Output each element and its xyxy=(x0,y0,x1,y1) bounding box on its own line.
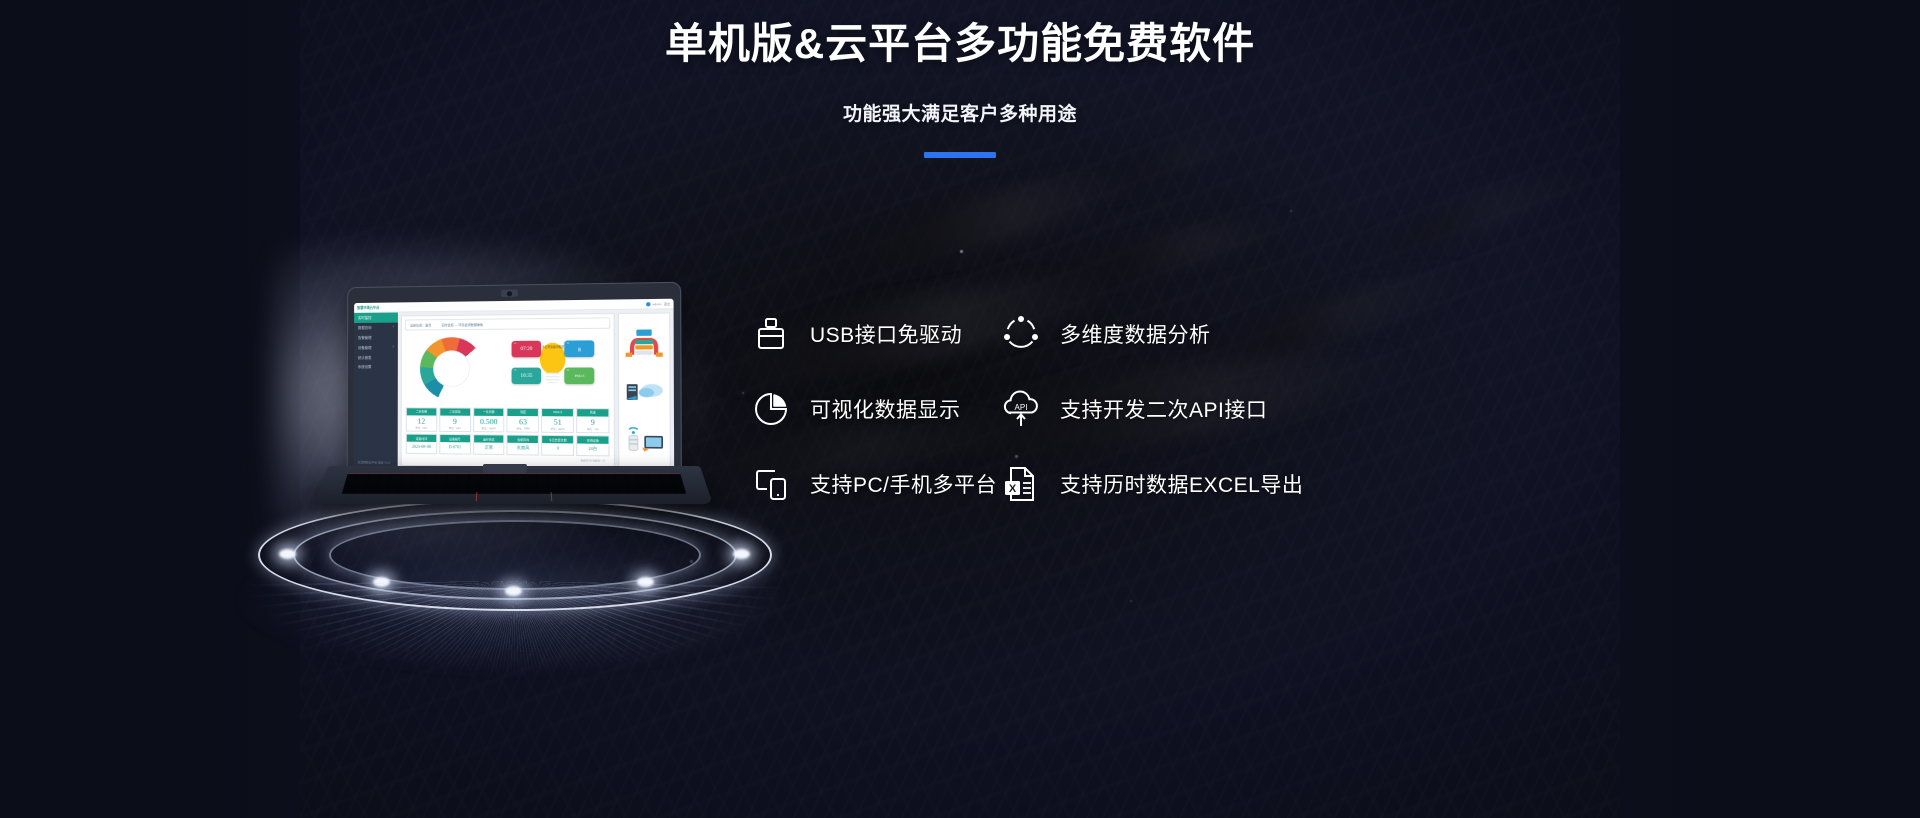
dashboard-main: 当前位置：首页 实时监控 — 环境监测数据看板 12 34 5 xyxy=(401,313,615,469)
hero-header: 单机版&云平台多功能免费软件 功能强大满足客户多种用途 xyxy=(0,18,1920,158)
callout-value: 良 xyxy=(578,347,582,352)
hero-banner: 单机版&云平台多功能免费软件 功能强大满足客户多种用途 智慧环境云平台 admi… xyxy=(0,0,1920,818)
feature-label: 支持历时数据EXCEL导出 xyxy=(1060,469,1303,499)
stat-tile: PM2.5 51 单位：μg/m³ xyxy=(541,408,574,433)
feature-label: 可视化数据显示 xyxy=(810,394,961,424)
stat-tile-unit: 单位：m/s xyxy=(577,427,608,433)
feature-item-multiplatform: 支持PC/手机多平台 xyxy=(750,446,1000,521)
cloud-server-graphic xyxy=(623,380,665,405)
sensor-device-graphic xyxy=(622,427,666,455)
callout-value: PM2.5 xyxy=(575,374,585,378)
feature-label: 支持开发二次API接口 xyxy=(1060,394,1267,424)
gauge-ticks: 12 34 5 xyxy=(420,338,484,401)
sidebar-item-label: 实时监控 xyxy=(358,315,371,320)
stat-tile-value: D-0701 xyxy=(440,442,470,453)
bulb-callout-0: 01 07:20 xyxy=(512,341,541,358)
callout-value: 07:20 xyxy=(521,347,533,352)
feature-item-api: API 支持开发二次API接口 xyxy=(1000,371,1303,446)
stat-tile-value: 24台 xyxy=(577,444,608,456)
feature-item-excel-export: X 支持历时数据EXCEL导出 xyxy=(1000,446,1303,521)
laptop-touchpad xyxy=(476,492,553,502)
org-chart-graphic xyxy=(623,327,665,359)
stat-tile: 设备编号 D-0701 xyxy=(439,434,471,455)
laptop-lid: 智慧环境云平台 admin 退出 实时监控 xyxy=(348,283,681,479)
sidebar-item-4[interactable]: 统计报表 xyxy=(354,352,398,362)
sidebar-item-label: 数据查询 xyxy=(358,325,371,330)
page-title: 单机版&云平台多功能免费软件 xyxy=(0,18,1920,71)
stat-tiles-row-2: 采集时间 2023-08-08 设备编号 D-0701 xyxy=(406,434,610,457)
usb-icon xyxy=(750,313,792,355)
logout-label[interactable]: 退出 xyxy=(664,301,671,305)
svg-text:API: API xyxy=(1015,403,1028,412)
topbar-icons: admin 退出 xyxy=(646,301,670,306)
user-avatar[interactable] xyxy=(646,302,650,306)
dashboard-screen: 智慧环境云平台 admin 退出 实时监控 xyxy=(354,299,674,473)
page-subtitle: 功能强大满足客户多种用途 xyxy=(0,99,1920,126)
topbar-user-label: admin xyxy=(652,301,661,305)
stat-tile: 今日告警次数 0 xyxy=(541,435,574,456)
dashboard-sidebar: 实时监控 数据查询› 告警管理 设备管理› xyxy=(354,313,398,469)
stat-tile: 当前风向 东南风 xyxy=(507,435,539,456)
dashboard-brand: 智慧环境云平台 xyxy=(357,305,379,310)
sidebar-item-label: 告警管理 xyxy=(358,335,371,340)
sidebar-item-label: 统计报表 xyxy=(358,354,371,359)
stat-tiles-row-1: 二氧化碳 12 单位：ppm 二氧化氮 9 单位：ppm xyxy=(406,407,610,433)
sidebar-item-1[interactable]: 数据查询› xyxy=(354,322,398,332)
svg-text:X: X xyxy=(1009,483,1017,495)
stat-tile: 运行状态 正常 xyxy=(473,434,505,455)
bulb-center-label: 今日环境运行概况 xyxy=(541,346,564,350)
feature-item-analysis: 多维度数据分析 xyxy=(1000,296,1303,371)
stat-tile: 湿度 63 单位：%RH xyxy=(507,408,539,433)
bulb-infographic: 今日环境运行概况 01 07:20 02 16:35 xyxy=(512,337,595,402)
laptop-bezel: 智慧环境云平台 admin 退出 实时监控 xyxy=(354,299,674,473)
webcam-icon xyxy=(501,290,518,297)
stat-tile-unit: 单位：μg/m³ xyxy=(542,426,573,432)
laptop-illustration: 智慧环境云平台 admin 退出 实时监控 xyxy=(330,280,680,530)
stat-tile-value: 63 xyxy=(508,416,538,427)
feature-item-visualization: 可视化数据显示 xyxy=(750,371,1000,446)
breadcrumb-item-0: 当前位置：首页 xyxy=(410,323,431,327)
laptop-hinge xyxy=(483,464,527,473)
stat-tile-value: 9 xyxy=(577,416,608,427)
stat-tile-value: 0.500 xyxy=(474,416,504,426)
sidebar-item-3[interactable]: 设备管理› xyxy=(354,342,398,352)
stat-tile-unit: 单位：ppm xyxy=(407,425,436,431)
sidebar-item-0[interactable]: 实时监控 xyxy=(354,313,398,323)
breadcrumb-item-1: 实时监控 — 环境监测数据看板 xyxy=(441,322,483,326)
stat-tile-value: 9 xyxy=(440,415,470,425)
feature-label: 支持PC/手机多平台 xyxy=(810,469,997,499)
callout-value: 16:35 xyxy=(521,374,533,379)
stat-tile: 风速 9 单位：m/s xyxy=(576,408,609,434)
excel-file-icon: X xyxy=(1000,463,1042,505)
bulb-callout-2: 03 良 xyxy=(565,341,595,358)
sidebar-item-label: 设备管理 xyxy=(358,345,371,350)
callout-index: 04 xyxy=(567,369,570,372)
devices-icon xyxy=(750,463,792,505)
bulb-callout-1: 02 16:35 xyxy=(512,368,541,385)
breadcrumb: 当前位置：首页 实时监控 — 环境监测数据看板 xyxy=(405,317,610,330)
stat-tile-value: 12 xyxy=(407,415,436,425)
stat-tile-unit: 单位：%RH xyxy=(508,426,538,432)
stat-tiles: 二氧化碳 12 单位：ppm 二氧化氮 9 单位：ppm xyxy=(402,405,614,468)
stat-tile-value: 51 xyxy=(542,416,573,427)
sidebar-item-label: 系统设置 xyxy=(358,364,371,369)
feature-item-usb: USB接口免驱动 xyxy=(750,296,1000,371)
dashboard-sidepane xyxy=(618,312,671,469)
pie-chart-icon xyxy=(750,388,792,430)
stat-tile-unit: 单位：mg/m³ xyxy=(474,426,504,432)
feature-label: 多维度数据分析 xyxy=(1060,319,1211,349)
stat-tile-value: 2023-08-08 xyxy=(407,442,436,452)
callout-index: 03 xyxy=(567,342,570,345)
pedestal-light xyxy=(733,549,750,559)
cloud-api-icon: API xyxy=(1000,388,1042,430)
feature-label: USB接口免驱动 xyxy=(810,319,962,349)
stat-tile: 在线设备 24台 xyxy=(576,435,609,456)
stat-tile-value: 东南风 xyxy=(508,443,538,455)
stat-tile: 一氧化碳 0.500 单位：mg/m³ xyxy=(473,408,505,433)
bulb-callout-3: 04 PM2.5 xyxy=(565,368,595,385)
sidebar-item-5[interactable]: 系统设置 xyxy=(354,362,398,372)
stat-tile: 二氧化氮 9 单位：ppm xyxy=(439,407,471,432)
gauge-chart: 12 34 5 xyxy=(420,338,484,401)
network-nodes-icon xyxy=(1000,313,1042,355)
callout-index: 02 xyxy=(514,369,517,372)
accent-divider xyxy=(924,152,996,158)
stat-tile-unit: 单位：ppm xyxy=(440,425,470,431)
stat-tile-value: 0 xyxy=(542,443,573,454)
sidebar-item-2[interactable]: 告警管理 xyxy=(354,332,398,342)
laptop-keyboard xyxy=(342,473,687,493)
pedestal-grate xyxy=(195,581,835,701)
stat-tile-value: 正常 xyxy=(474,442,504,454)
stat-tile: 二氧化碳 12 单位：ppm xyxy=(406,407,437,432)
feature-list: USB接口免驱动 多维度数据分析 xyxy=(750,296,1303,521)
callout-index: 01 xyxy=(514,342,517,345)
stat-tile: 采集时间 2023-08-08 xyxy=(406,434,437,454)
